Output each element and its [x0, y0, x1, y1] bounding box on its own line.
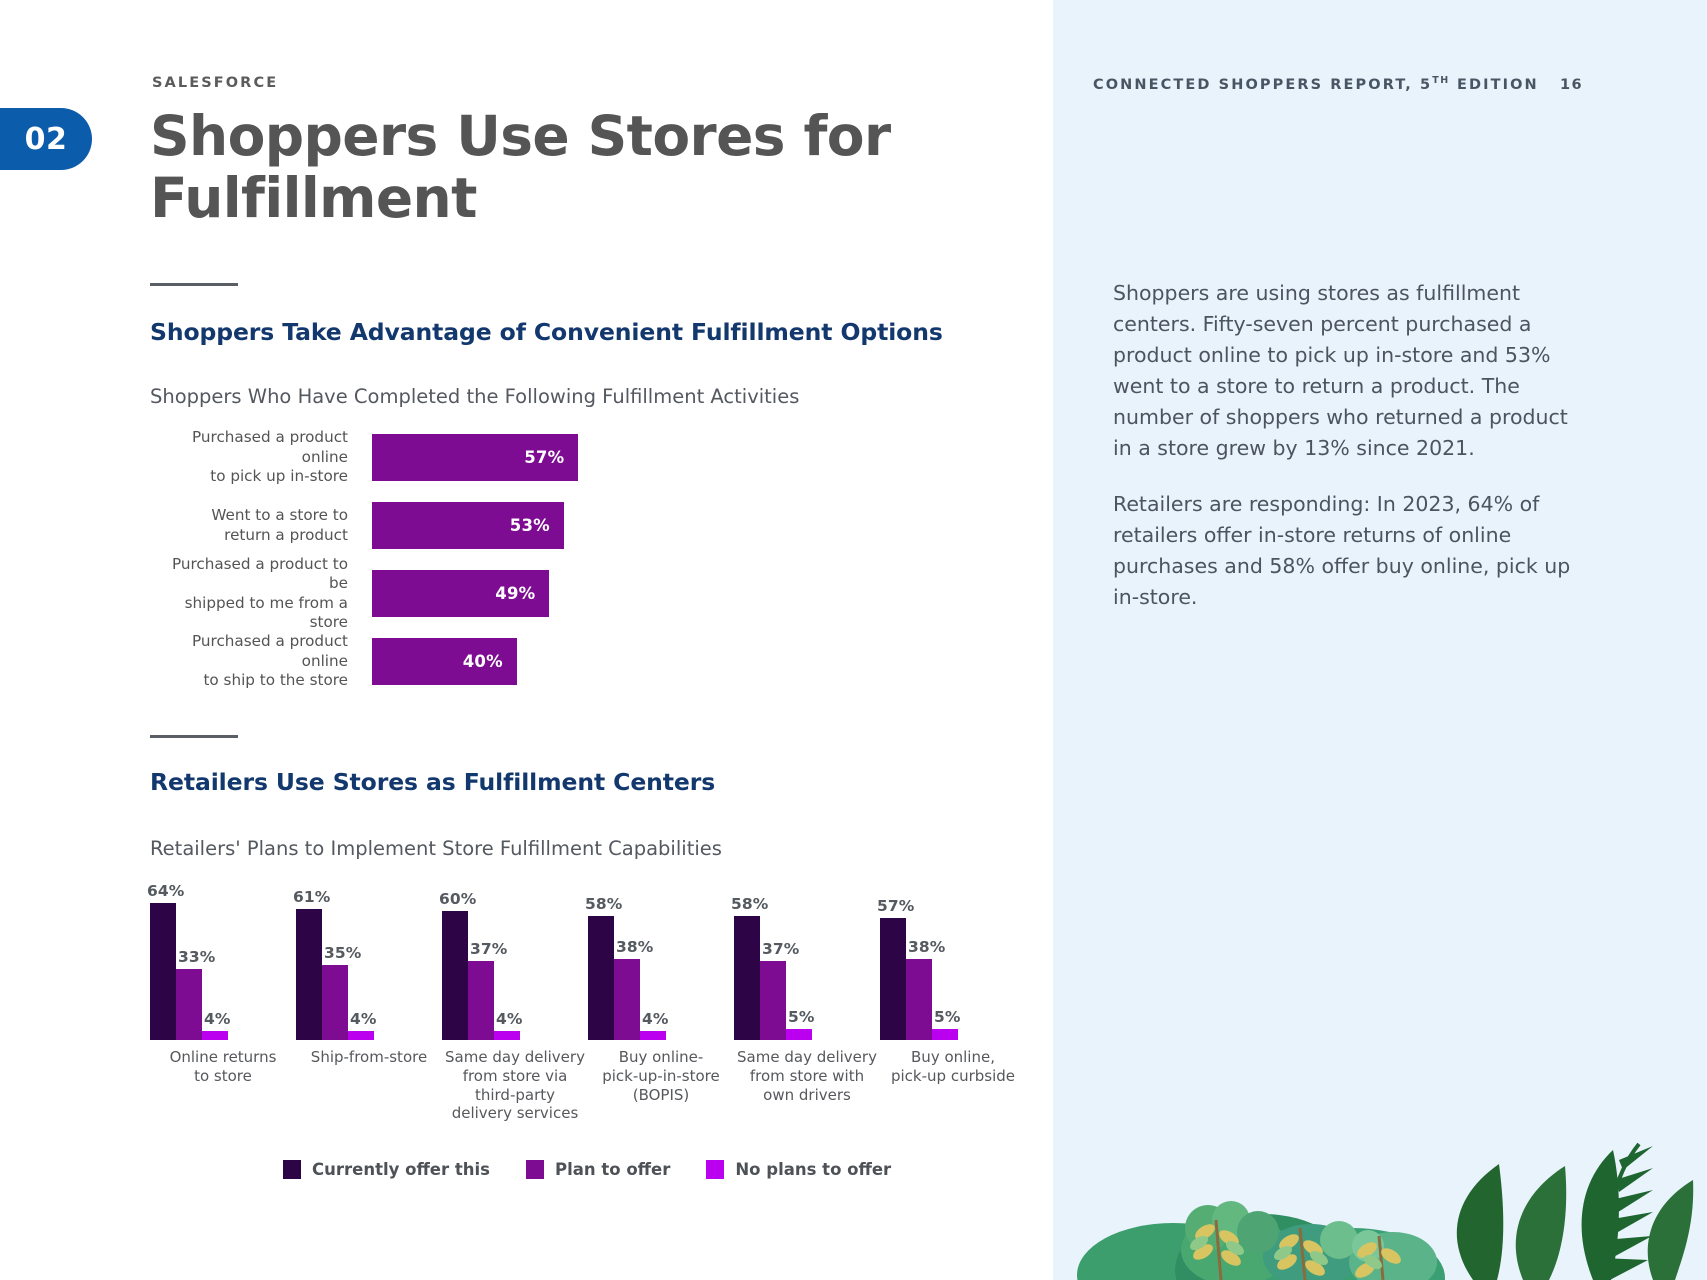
bar-value-label: 61%: [293, 888, 330, 906]
section-one-rule: [150, 283, 238, 286]
grouped-chart-x-axis: Online returnsto storeShip-from-storeSam…: [150, 1048, 1030, 1123]
bar-value-label: 40%: [463, 652, 517, 671]
legend-swatch: [706, 1160, 724, 1179]
bar-value-label: 53%: [510, 516, 564, 535]
page-title: Shoppers Use Stores for Fulfillment: [150, 105, 910, 229]
bar-segment: 57%: [880, 918, 906, 1040]
section-two-heading: Retailers Use Stores as Fulfillment Cent…: [150, 768, 715, 796]
bar-value-label: 35%: [324, 944, 361, 962]
bar-group: 58%37%5%: [734, 890, 880, 1040]
bar-row: Purchased a product to beshipped to me f…: [150, 570, 770, 617]
bar-value-label: 38%: [616, 938, 653, 956]
bar-value-label: 4%: [204, 1010, 231, 1028]
bar-value-label: 37%: [762, 940, 799, 958]
bar-value-label: 5%: [788, 1008, 815, 1026]
bar-fill: [932, 1029, 958, 1040]
legend-swatch: [526, 1160, 544, 1179]
bar-segment: 5%: [932, 1029, 958, 1040]
bar-segment: 38%: [906, 959, 932, 1040]
bar-row: Purchased a product onlineto ship to the…: [150, 638, 770, 685]
bar-group: 64%33%4%: [150, 890, 296, 1040]
bar-track: 49%: [372, 570, 770, 617]
bar-value-label: 57%: [877, 897, 914, 915]
bar-fill: [760, 961, 786, 1040]
report-header-edition: EDITION: [1457, 77, 1539, 93]
bar-segment: 4%: [640, 1031, 666, 1040]
summary-paragraph: Shoppers are using stores as fulfillment…: [1113, 278, 1573, 464]
bar-value-label: 60%: [439, 890, 476, 908]
bar-fill: [348, 1031, 374, 1040]
bar-category-label: Purchased a product to beshipped to me f…: [150, 555, 372, 633]
bar-value-label: 37%: [470, 940, 507, 958]
bar-group: 58%38%4%: [588, 890, 734, 1040]
bar-segment: 37%: [468, 961, 494, 1040]
x-axis-label: Buy online-pick-up-in-store(BOPIS): [588, 1048, 734, 1123]
bar-value-label: 49%: [495, 584, 549, 603]
bar-segment: 4%: [202, 1031, 228, 1040]
right-side-panel: [1053, 0, 1707, 1280]
bar-fill: 49%: [372, 570, 549, 617]
bar-fill: [442, 911, 468, 1040]
x-axis-label: Online returnsto store: [150, 1048, 296, 1123]
bar-segment: 35%: [322, 965, 348, 1040]
bar-segment: 64%: [150, 903, 176, 1040]
bar-segment: 5%: [786, 1029, 812, 1040]
bar-segment: 58%: [588, 916, 614, 1040]
bar-value-label: 64%: [147, 882, 184, 900]
bar-category-label: Purchased a product onlineto ship to the…: [150, 632, 372, 690]
bar-fill: [494, 1031, 520, 1040]
report-header-ordinal: TH: [1432, 75, 1450, 86]
bar-fill: [640, 1031, 666, 1040]
bar-value-label: 58%: [731, 895, 768, 913]
bar-fill: [614, 959, 640, 1040]
bar-fill: [150, 903, 176, 1040]
foliage-illustration: [1053, 1100, 1707, 1280]
bar-category-label: Purchased a product onlineto pick up in-…: [150, 428, 372, 486]
x-axis-label: Same day deliveryfrom store withown driv…: [734, 1048, 880, 1123]
bar-track: 40%: [372, 638, 770, 685]
legend-item[interactable]: Plan to offer: [526, 1160, 670, 1179]
bar-group: 61%35%4%: [296, 890, 442, 1040]
section-two-rule: [150, 735, 238, 738]
bar-segment: 33%: [176, 969, 202, 1040]
bar-category-label: Went to a store toreturn a product: [150, 506, 372, 545]
x-axis-label: Buy online,pick-up curbside: [880, 1048, 1026, 1123]
section-number-text: 02: [25, 122, 68, 157]
legend-item[interactable]: Currently offer this: [283, 1160, 490, 1179]
summary-text-panel: Shoppers are using stores as fulfillment…: [1113, 278, 1573, 613]
bar-fill: [176, 969, 202, 1040]
bar-group: 60%37%4%: [442, 890, 588, 1040]
legend-swatch: [283, 1160, 301, 1179]
bar-value-label: 57%: [524, 448, 578, 467]
legend-label: No plans to offer: [735, 1160, 891, 1179]
bar-segment: 61%: [296, 909, 322, 1040]
bar-row: Went to a store toreturn a product53%: [150, 502, 770, 549]
bar-fill: 40%: [372, 638, 517, 685]
bar-fill: [906, 959, 932, 1040]
store-fulfillment-grouped-bar-chart: 64%33%4%61%35%4%60%37%4%58%38%4%58%37%5%…: [150, 890, 1030, 1070]
bar-group: 57%38%5%: [880, 890, 1026, 1040]
bar-fill: [468, 961, 494, 1040]
bar-fill: [588, 916, 614, 1040]
bar-track: 53%: [372, 502, 770, 549]
bar-segment: 37%: [760, 961, 786, 1040]
bar-segment: 58%: [734, 916, 760, 1040]
section-one-heading: Shoppers Take Advantage of Convenient Fu…: [150, 318, 943, 346]
legend-label: Currently offer this: [312, 1160, 490, 1179]
bar-value-label: 4%: [350, 1010, 377, 1028]
bar-fill: [202, 1031, 228, 1040]
section-one-subheading: Shoppers Who Have Completed the Followin…: [150, 385, 799, 408]
bar-row: Purchased a product onlineto pick up in-…: [150, 434, 770, 481]
chart-legend: Currently offer thisPlan to offerNo plan…: [283, 1160, 891, 1179]
report-page: 02 SALESFORCE CONNECTED SHOPPERS REPORT,…: [0, 0, 1707, 1280]
bar-value-label: 38%: [908, 938, 945, 956]
report-header: CONNECTED SHOPPERS REPORT, 5TH EDITION 1…: [1093, 75, 1583, 93]
bar-fill: 57%: [372, 434, 578, 481]
bar-fill: [322, 965, 348, 1040]
x-axis-label: Ship-from-store: [296, 1048, 442, 1123]
bar-segment: 38%: [614, 959, 640, 1040]
bar-value-label: 4%: [496, 1010, 523, 1028]
report-header-text: CONNECTED SHOPPERS REPORT, 5: [1093, 77, 1432, 93]
bar-fill: 53%: [372, 502, 564, 549]
bar-value-label: 33%: [178, 948, 215, 966]
bar-segment: 60%: [442, 911, 468, 1040]
legend-item[interactable]: No plans to offer: [706, 1160, 891, 1179]
bar-fill: [734, 916, 760, 1040]
section-two-subheading: Retailers' Plans to Implement Store Fulf…: [150, 837, 722, 860]
bar-fill: [880, 918, 906, 1040]
x-axis-label: Same day deliveryfrom store viathird-par…: [442, 1048, 588, 1123]
bar-fill: [296, 909, 322, 1040]
fulfillment-activities-bar-chart: Purchased a product onlineto pick up in-…: [150, 434, 770, 706]
section-number-badge: 02: [0, 108, 92, 170]
bar-segment: 4%: [494, 1031, 520, 1040]
summary-paragraph: Retailers are responding: In 2023, 64% o…: [1113, 489, 1573, 613]
bar-value-label: 5%: [934, 1008, 961, 1026]
bar-fill: [786, 1029, 812, 1040]
grouped-chart-plot-area: 64%33%4%61%35%4%60%37%4%58%38%4%58%37%5%…: [150, 890, 1030, 1040]
bar-value-label: 4%: [642, 1010, 669, 1028]
bar-track: 57%: [372, 434, 770, 481]
bar-value-label: 58%: [585, 895, 622, 913]
brand-eyebrow: SALESFORCE: [152, 75, 278, 91]
bar-segment: 4%: [348, 1031, 374, 1040]
page-number: 16: [1560, 77, 1583, 93]
legend-label: Plan to offer: [555, 1160, 670, 1179]
